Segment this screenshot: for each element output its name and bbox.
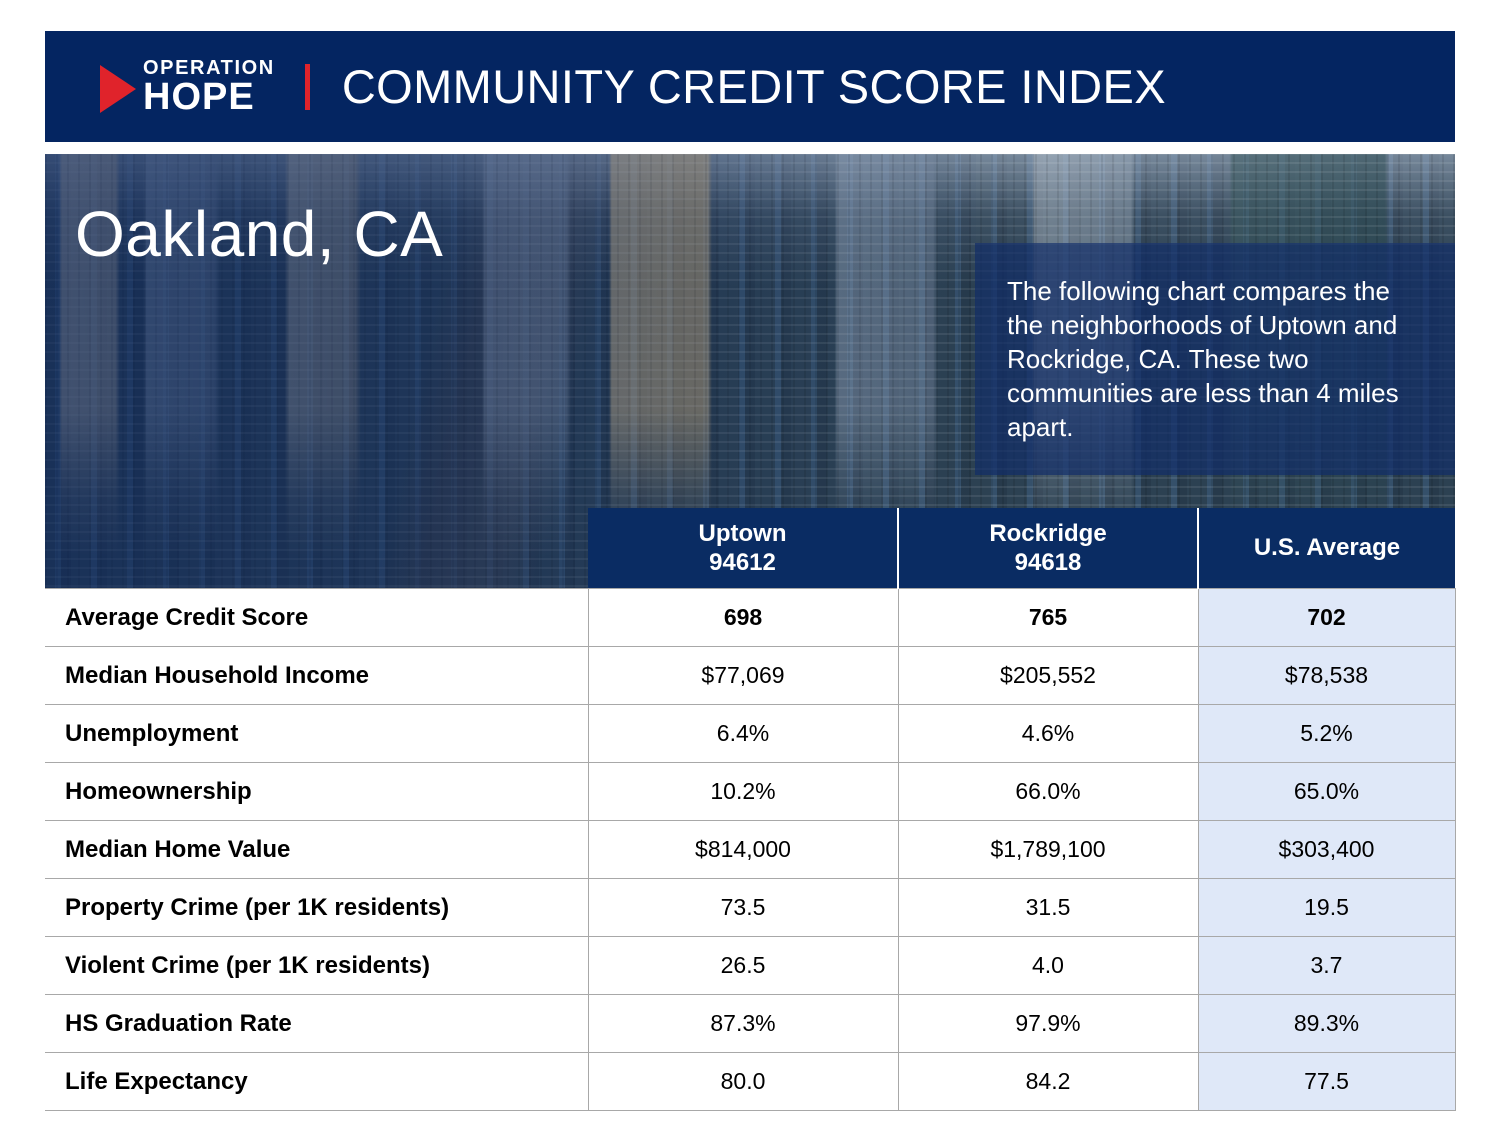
cell-us-average: 19.5	[1198, 879, 1455, 937]
column-header-rockridge-name: Rockridge	[989, 520, 1106, 547]
column-header-uptown: Uptown 94612	[588, 508, 898, 589]
page-header: OPERATION HOPE COMMUNITY CREDIT SCORE IN…	[45, 31, 1455, 142]
cell-us-average: 702	[1198, 589, 1455, 647]
cell-us-average: 3.7	[1198, 937, 1455, 995]
cell-uptown: $77,069	[588, 647, 898, 705]
column-header-uptown-name: Uptown	[699, 520, 787, 547]
column-header-us-average-name: U.S. Average	[1254, 534, 1400, 561]
row-label: Life Expectancy	[45, 1053, 588, 1111]
row-label: Median Household Income	[45, 647, 588, 705]
column-header-us-average: U.S. Average	[1198, 508, 1455, 589]
table-row: Median Household Income$77,069$205,552$7…	[45, 647, 1455, 705]
cell-uptown: 87.3%	[588, 995, 898, 1053]
row-label: Property Crime (per 1K residents)	[45, 879, 588, 937]
cell-us-average: 65.0%	[1198, 763, 1455, 821]
cell-us-average: 89.3%	[1198, 995, 1455, 1053]
comparison-table: Uptown 94612 Rockridge 94618 U.S. Averag…	[45, 508, 1456, 1111]
cell-rockridge: 84.2	[898, 1053, 1198, 1111]
hero-description-text: The following chart compares the the nei…	[1007, 274, 1425, 444]
cell-rockridge: 97.9%	[898, 995, 1198, 1053]
cell-uptown: 73.5	[588, 879, 898, 937]
table-row: Life Expectancy80.084.277.5	[45, 1053, 1455, 1111]
cell-rockridge: 765	[898, 589, 1198, 647]
table-header-row-group: Uptown 94612 Rockridge 94618 U.S. Averag…	[45, 508, 1455, 589]
cell-uptown: 698	[588, 589, 898, 647]
table-row: Median Home Value$814,000$1,789,100$303,…	[45, 821, 1455, 879]
row-label: Violent Crime (per 1K residents)	[45, 937, 588, 995]
page-title: COMMUNITY CREDIT SCORE INDEX	[342, 59, 1166, 114]
column-header-rockridge: Rockridge 94618	[898, 508, 1198, 589]
row-label: Average Credit Score	[45, 589, 588, 647]
column-header-rockridge-zip: 94618	[899, 548, 1197, 577]
cell-uptown: 80.0	[588, 1053, 898, 1111]
row-label: Median Home Value	[45, 821, 588, 879]
hero-description-box: The following chart compares the the nei…	[975, 243, 1455, 475]
table-row: Unemployment6.4%4.6%5.2%	[45, 705, 1455, 763]
cell-us-average: 77.5	[1198, 1053, 1455, 1111]
table-header-row: Uptown 94612 Rockridge 94618 U.S. Averag…	[45, 508, 1455, 589]
row-label: Homeownership	[45, 763, 588, 821]
table-body: Average Credit Score698765702Median Hous…	[45, 589, 1455, 1111]
table-row: HS Graduation Rate87.3%97.9%89.3%	[45, 995, 1455, 1053]
table-row: Violent Crime (per 1K residents)26.54.03…	[45, 937, 1455, 995]
header-divider	[305, 64, 310, 110]
cell-uptown: $814,000	[588, 821, 898, 879]
cell-rockridge: $1,789,100	[898, 821, 1198, 879]
logo-wordmark: OPERATION HOPE	[143, 58, 275, 115]
red-right-arrow-icon	[100, 65, 136, 113]
operation-hope-logo: OPERATION HOPE	[100, 58, 275, 115]
table-row: Property Crime (per 1K residents)73.531.…	[45, 879, 1455, 937]
column-header-uptown-zip: 94612	[588, 548, 897, 577]
row-label: HS Graduation Rate	[45, 995, 588, 1053]
cell-uptown: 26.5	[588, 937, 898, 995]
cell-rockridge: 4.6%	[898, 705, 1198, 763]
cell-uptown: 6.4%	[588, 705, 898, 763]
comparison-table-wrapper: Uptown 94612 Rockridge 94618 U.S. Averag…	[45, 508, 1455, 1111]
cell-us-average: $303,400	[1198, 821, 1455, 879]
cell-us-average: $78,538	[1198, 647, 1455, 705]
cell-rockridge: 4.0	[898, 937, 1198, 995]
cell-uptown: 10.2%	[588, 763, 898, 821]
cell-rockridge: 31.5	[898, 879, 1198, 937]
logo-operation-text: OPERATION	[143, 58, 275, 78]
table-row: Homeownership10.2%66.0%65.0%	[45, 763, 1455, 821]
table-header-spacer	[45, 508, 588, 589]
cell-us-average: 5.2%	[1198, 705, 1455, 763]
city-name-heading: Oakland, CA	[75, 199, 443, 269]
row-label: Unemployment	[45, 705, 588, 763]
cell-rockridge: $205,552	[898, 647, 1198, 705]
logo-hope-text: HOPE	[143, 79, 275, 115]
table-row: Average Credit Score698765702	[45, 589, 1455, 647]
cell-rockridge: 66.0%	[898, 763, 1198, 821]
